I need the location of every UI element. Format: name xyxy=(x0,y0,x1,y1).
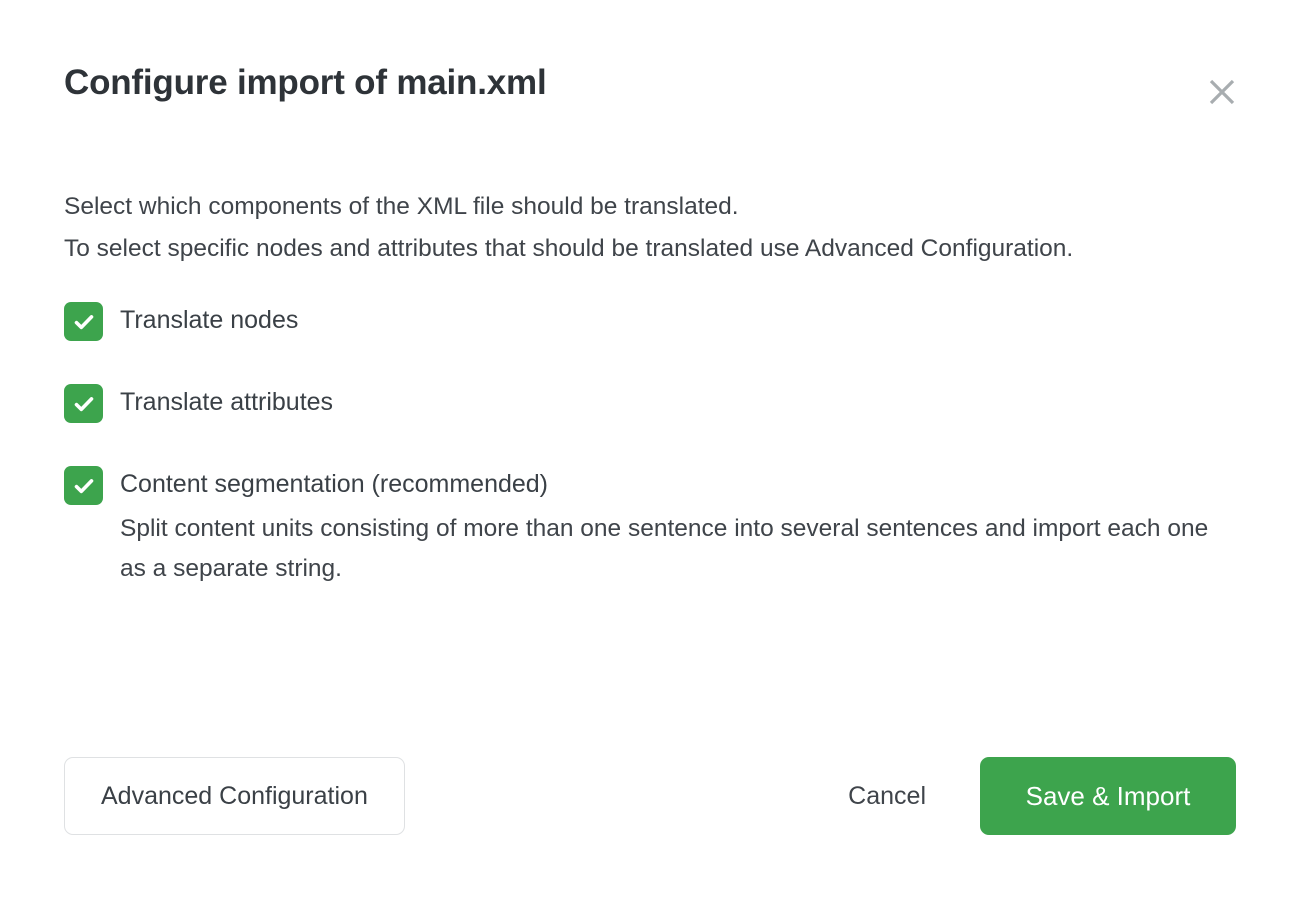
dialog-body: Select which components of the XML file … xyxy=(64,186,1242,589)
option-label: Translate nodes xyxy=(120,306,298,334)
options-list: Translate nodes Translate attributes xyxy=(64,300,1242,589)
option-label: Translate attributes xyxy=(120,388,333,416)
description-line-1: Select which components of the XML file … xyxy=(64,186,1094,228)
option-text: Content segmentation (recommended) Split… xyxy=(120,464,1220,589)
checkbox-content-segmentation[interactable] xyxy=(64,466,103,505)
advanced-configuration-button[interactable]: Advanced Configuration xyxy=(64,757,405,835)
checkbox-translate-nodes[interactable] xyxy=(64,302,103,341)
dialog-footer: Advanced Configuration Cancel Save & Imp… xyxy=(64,757,1236,835)
check-icon xyxy=(72,474,96,498)
close-button[interactable] xyxy=(1200,70,1244,114)
checkbox-translate-attributes[interactable] xyxy=(64,384,103,423)
dialog-header: Configure import of main.xml xyxy=(64,64,1236,128)
option-description: Split content units consisting of more t… xyxy=(120,509,1220,589)
option-text: Translate nodes xyxy=(120,300,298,339)
close-icon xyxy=(1207,77,1237,107)
configure-import-dialog: Configure import of main.xml Select whic… xyxy=(0,0,1300,900)
option-translate-attributes[interactable]: Translate attributes xyxy=(64,382,1242,423)
option-content-segmentation[interactable]: Content segmentation (recommended) Split… xyxy=(64,464,1242,589)
check-icon xyxy=(72,392,96,416)
cancel-button[interactable]: Cancel xyxy=(830,757,944,835)
page-title: Configure import of main.xml xyxy=(64,64,1236,103)
description-line-2: To select specific nodes and attributes … xyxy=(64,228,1094,270)
dialog-description: Select which components of the XML file … xyxy=(64,186,1094,270)
save-and-import-button[interactable]: Save & Import xyxy=(980,757,1236,835)
option-text: Translate attributes xyxy=(120,382,333,421)
option-label: Content segmentation (recommended) xyxy=(120,465,1220,503)
check-icon xyxy=(72,310,96,334)
option-translate-nodes[interactable]: Translate nodes xyxy=(64,300,1242,341)
